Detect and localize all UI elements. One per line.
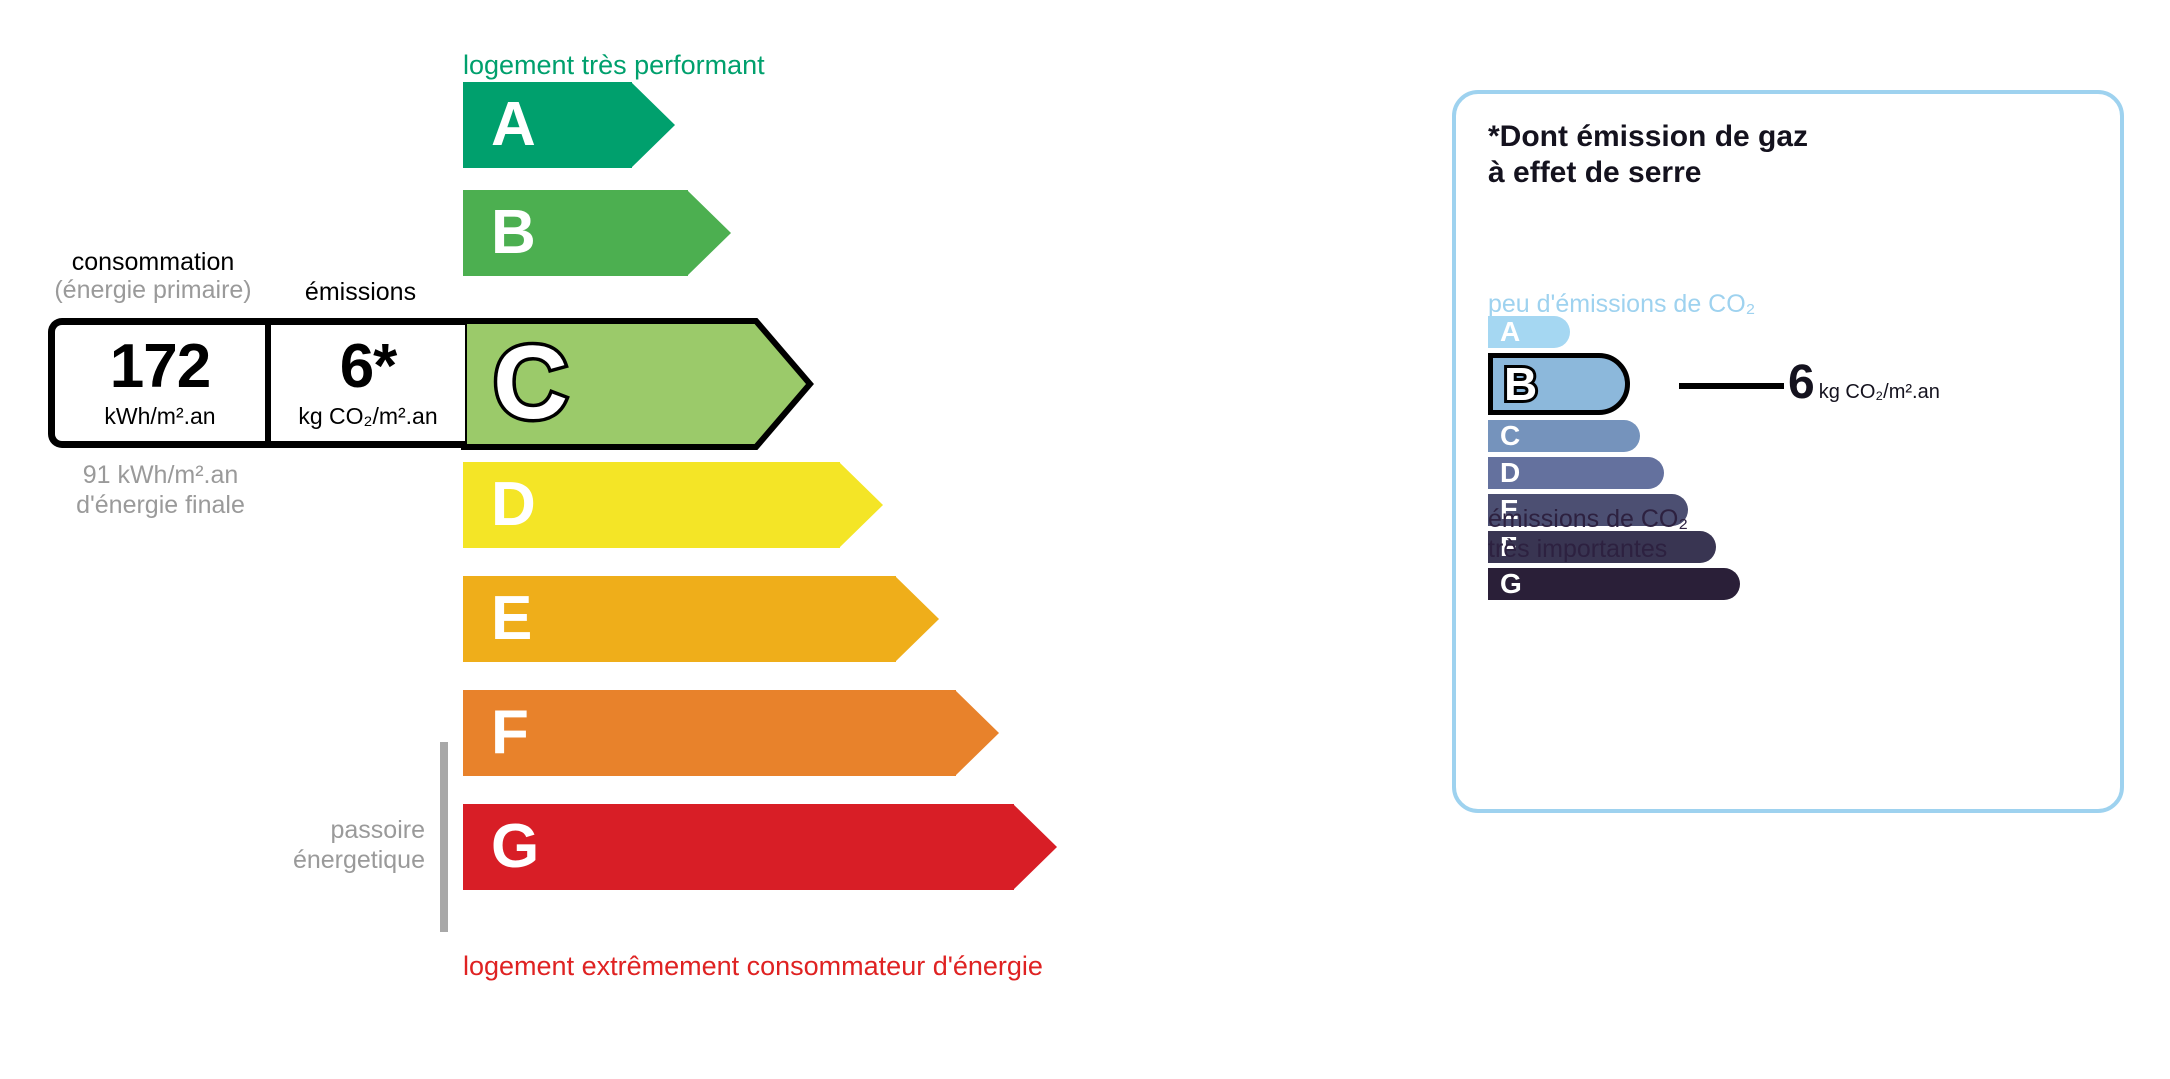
final-energy-note: 91 kWh/m².an d'énergie finale [48,460,273,520]
energy-bar-g-body [463,804,1014,890]
co2-callout: 6kg CO₂/m².an [1788,359,1940,407]
co2-bar-g-letter: G [1500,570,1522,598]
energy-bar-d: D [463,462,883,548]
consumption-value-cell: 172 kWh/m².an [55,325,265,441]
energy-bar-f-body [463,690,956,776]
energy-bar-b-head [687,190,731,276]
passoire-bracket [440,742,448,932]
energy-bar-a-head [631,82,675,168]
co2-emissions-panel: *Dont émission de gaz à effet de serre p… [1452,90,2124,813]
co2-bottom-caption-line2: très importantes [1488,534,1688,564]
consumption-value: 172 [110,336,210,398]
energy-bar-d-letter: D [491,474,536,536]
energy-bar-f-letter: F [491,702,529,764]
consumption-label-sub: (énergie primaire) [48,276,258,304]
energy-bar-e-head [895,576,939,662]
energy-bar-g-letter: G [491,816,539,878]
passoire-label: passoire énergetique [230,815,425,875]
scale-bottom-caption: logement extrêmement consommateur d'éner… [463,951,1043,982]
consumption-unit: kWh/m².an [104,403,215,430]
emissions-value-cell: 6* kg CO₂/m².an [265,325,465,441]
energy-bar-d-head [839,462,883,548]
passoire-label-line1: passoire [230,815,425,845]
energy-bar-g: G [463,804,1057,890]
final-energy-caption: d'énergie finale [48,490,273,520]
co2-bottom-caption: émissions de CO₂ très importantes [1488,504,1688,564]
energy-bar-a-body [463,82,632,168]
co2-bottom-caption-line1: émissions de CO₂ [1488,504,1688,534]
final-energy-value: 91 kWh/m².an [48,460,273,490]
co2-top-caption: peu d'émissions de CO₂ [1488,290,1755,319]
co2-bar-b-letter: B [1504,361,1537,407]
energy-bar-b: B [463,190,731,276]
co2-panel-title: *Dont émission de gaz à effet de serre [1488,119,1808,191]
emissions-label: émissions [258,278,463,306]
energy-bar-a: A [463,82,675,168]
co2-bar-c-letter: C [1500,422,1520,450]
value-box: 172 kWh/m².an 6* kg CO₂/m².an [48,318,465,448]
emissions-unit: kg CO₂/m².an [298,403,437,430]
consumption-label-main: consommation [48,248,258,276]
energy-bar-c-selected: C [463,318,807,448]
energy-bar-a-letter: A [491,94,536,156]
co2-leader-line [1679,383,1784,389]
energy-bar-g-head [1013,804,1057,890]
co2-bar-d-letter: D [1500,459,1520,487]
co2-bar-g-fill [1488,568,1740,600]
co2-callout-unit: kg CO₂/m².an [1819,381,1940,403]
energy-bar-c-letter: C [493,331,568,435]
consumption-label: consommation (énergie primaire) [48,248,258,304]
co2-bar-a-letter: A [1500,318,1520,346]
energy-bar-e-letter: E [491,588,532,650]
energy-bar-f: F [463,690,999,776]
energy-bar-b-letter: B [491,202,536,264]
energy-bar-e: E [463,576,939,662]
energy-bar-f-head [955,690,999,776]
scale-top-caption: logement très performant [463,50,765,81]
emissions-value: 6* [340,336,397,398]
co2-panel-title-line1: *Dont émission de gaz [1488,119,1808,155]
co2-callout-value: 6 [1788,356,1815,409]
passoire-label-line2: énergetique [230,845,425,875]
energy-performance-scale: logement très performant A B C D [0,0,1400,1079]
co2-panel-title-line2: à effet de serre [1488,155,1808,191]
